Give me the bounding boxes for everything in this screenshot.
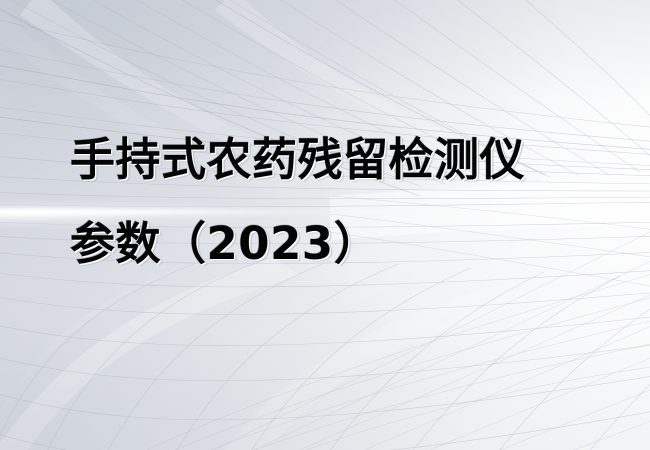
headline-line-1: 手持式农药残留检测仪 (70, 118, 610, 202)
headline: 手持式农药残留检测仪 参数（2023） (70, 118, 610, 286)
headline-line-2: 参数（2023） (70, 202, 610, 286)
title-banner: 手持式农药残留检测仪 参数（2023） (0, 0, 650, 450)
